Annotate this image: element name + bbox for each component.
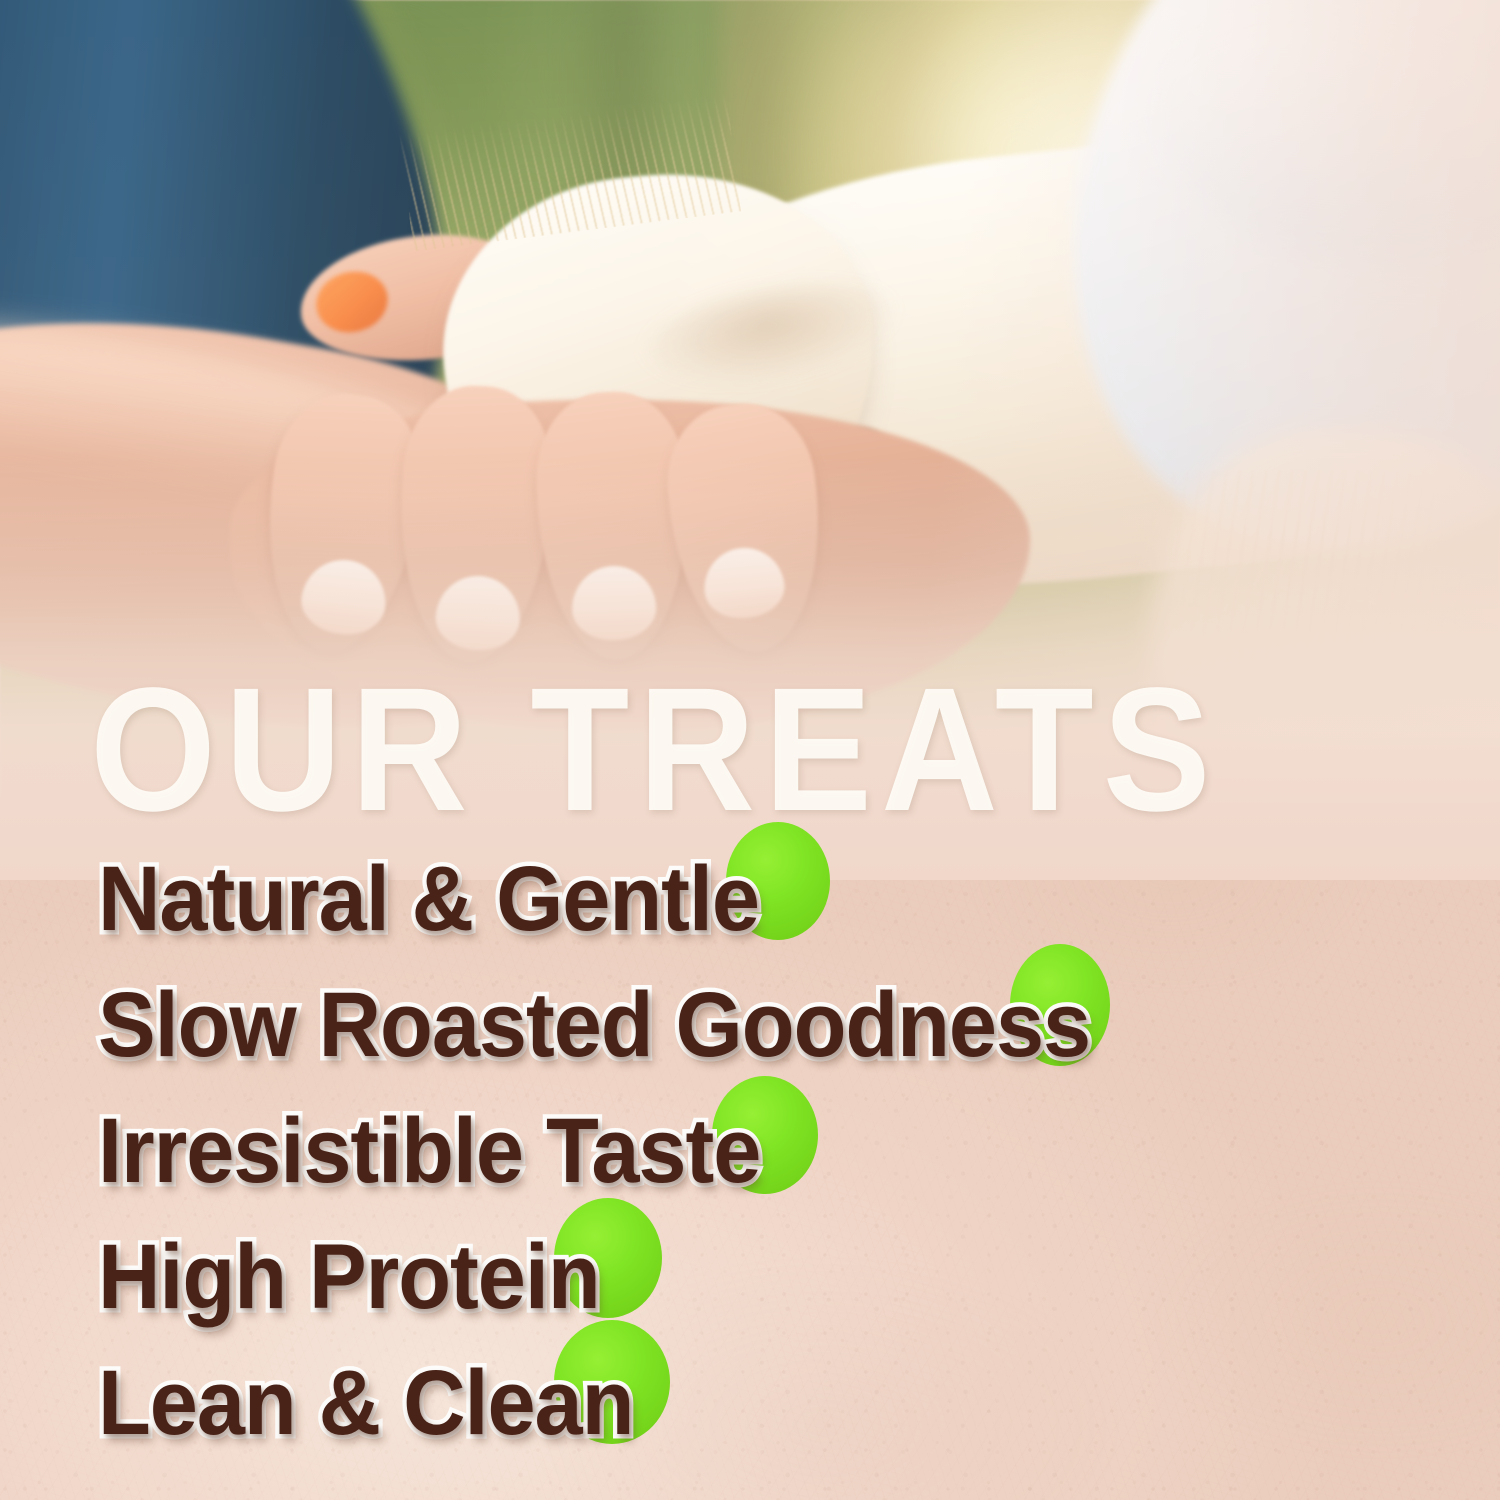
page-title: OUR TREATS: [90, 662, 1176, 838]
benefit-label: Slow Roasted Goodness: [98, 962, 1090, 1088]
benefit-label: Lean & Clean: [98, 1340, 633, 1466]
list-item: High Protein: [0, 1214, 1500, 1340]
list-item: Natural & Gentle: [0, 836, 1500, 962]
benefit-label: Natural & Gentle: [98, 836, 759, 962]
list-item: Lean & Clean: [0, 1340, 1500, 1466]
list-item: Irresistible Taste: [0, 1088, 1500, 1214]
benefits-list: Natural & Gentle Slow Roasted Goodness I…: [0, 836, 1500, 1466]
product-feature-poster: OUR TREATS Natural & Gentle Slow Roasted…: [0, 0, 1500, 1500]
benefit-label: Irresistible Taste: [98, 1088, 760, 1214]
list-item: Slow Roasted Goodness: [0, 962, 1500, 1088]
benefit-label: High Protein: [98, 1214, 600, 1340]
